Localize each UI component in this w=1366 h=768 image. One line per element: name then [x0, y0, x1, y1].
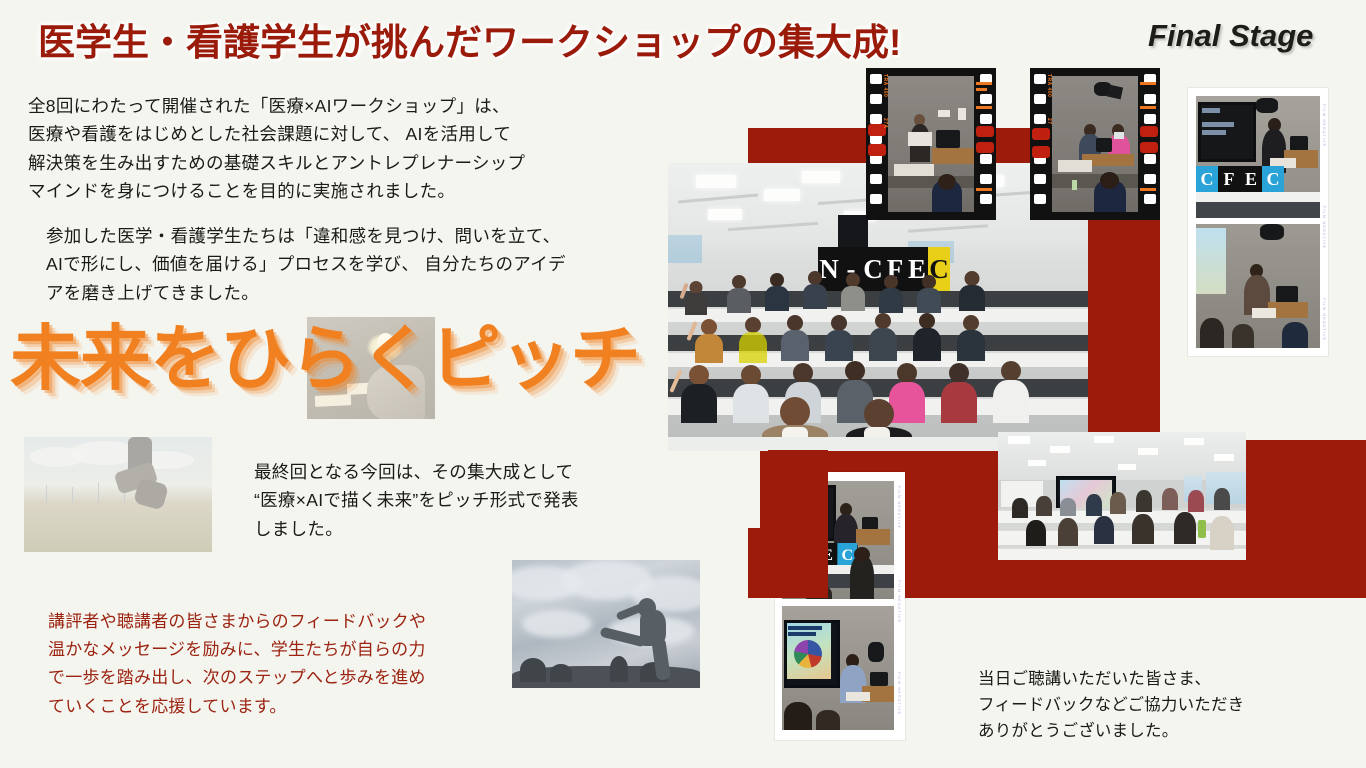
film-code-1: 27A — [882, 118, 888, 129]
frame-label-lower-1: FILM NEGATIVE — [897, 486, 902, 529]
photo-filmstrip-2: TRA 400 27 — [1030, 68, 1160, 220]
paragraph-final: 最終回となる今回は、その集大成として “医療×AIで描く未来”をピッチ形式で発表… — [254, 458, 674, 543]
photo-filmstrip-1: TRA 400 27A — [866, 68, 996, 220]
paragraph-process: 参加した医学・看護学生たちは「違和感を見つけ、問いを立て、 AIで形にし、価値を… — [46, 222, 666, 307]
pitch-headline: 未来をひらくピッチ — [10, 312, 690, 408]
photo-presenter-stack-right: CFEC FILM NEGATIVE FILM NEGATI — [1188, 88, 1328, 356]
frame-label-right-2: FILM NEGATIVE — [1322, 206, 1327, 249]
frame-label-lower-2: FILM NEGATIVE — [897, 580, 902, 623]
film-code-2: 27 — [1046, 118, 1052, 125]
paragraph-support: 講評者や聴講者の皆さまからのフィードバックや 温かなメッセージを励みに、学生たち… — [48, 608, 498, 721]
paragraph-intro: 全8回にわたって開催された「医療×AIワークショップ」は、 医療や看護をはじめと… — [28, 92, 648, 205]
final-stage-badge: Final Stage — [1148, 18, 1313, 54]
paragraph-thanks: 当日ご聴講いただいた皆さま、 フィードバックなどご協力いただき ありがとうござい… — [978, 666, 1338, 744]
page-title: 医学生・看護学生が挑んだワークショップの集大成! — [38, 12, 901, 66]
film-label-2: TRA 400 — [1046, 74, 1052, 97]
poster-ncfec — [838, 215, 868, 251]
pitch-headline-group: 未来をひらくピッチ — [10, 312, 690, 424]
frame-label-lower-3: FILM NEGATIVE — [897, 672, 902, 715]
slide-canvas: N-C FEC — [0, 0, 1366, 768]
frame-label-right-1: FILM NEGATIVE — [1322, 104, 1327, 147]
photo-audience-room — [998, 432, 1246, 560]
photo-field-walking — [24, 437, 212, 552]
film-label-1: TRA 400 — [882, 74, 888, 97]
frame-label-right-3: FILM NEGATIVE — [1322, 298, 1327, 341]
red-block-left-strip — [768, 450, 828, 598]
photo-jumping-silhouette — [512, 560, 700, 688]
